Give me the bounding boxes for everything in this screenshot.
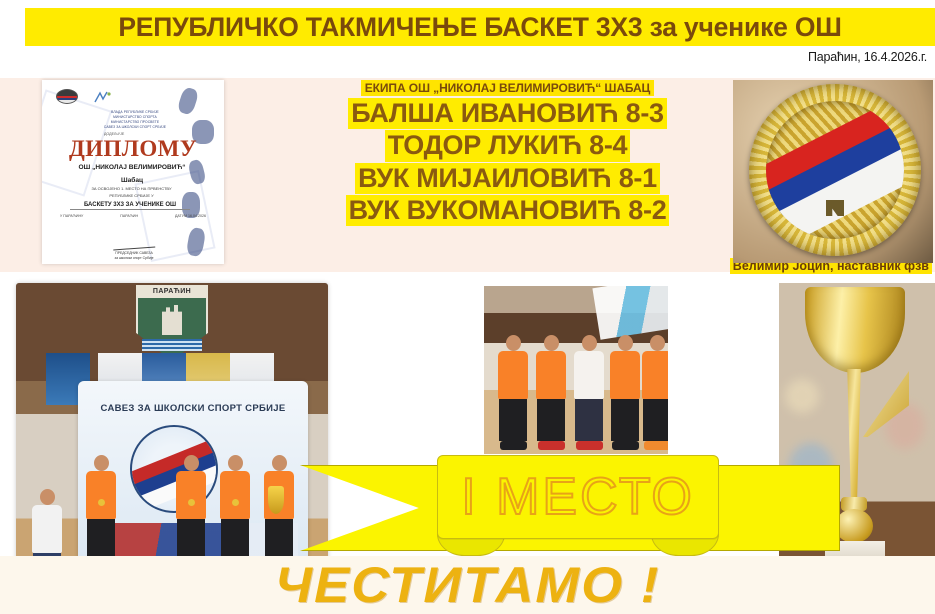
bokeh-blur	[785, 379, 819, 413]
medal-inner-face	[766, 101, 904, 239]
first-place-ribbon: I МЕСТО	[437, 455, 719, 539]
footer-strip	[0, 556, 935, 614]
person-legs	[221, 519, 249, 561]
diploma-signature: ПРЕДСЕДНИК САВЕЗА за школски спорт Србиј…	[84, 240, 184, 261]
roster-item: ВУК ВУКОМАНОВИЋ 8-2	[300, 195, 715, 226]
player-name: ТОДОР ЛУКИЋ 8-4	[385, 130, 631, 161]
diploma-footer-row: У ПАРАЋИНУ ПАРАЋИН ДАТУМ 16.04.2026	[60, 214, 206, 218]
person-legs	[643, 399, 668, 441]
person-shoes	[576, 441, 603, 450]
coach-figure	[574, 335, 604, 450]
medal-icon	[98, 499, 105, 506]
title-banner: РЕПУБЛИЧКО ТАКМИЧЕЊЕ БАСКЕТ 3Х3 за учени…	[25, 8, 935, 46]
person-head	[650, 335, 665, 351]
person-head	[618, 335, 633, 351]
team-roster: ЕКИПА ОШ „НИКОЛАЈ ВЕЛИМИРОВИЋ“ ШАБАЦ БАЛ…	[300, 79, 715, 226]
medal-icon	[188, 499, 195, 506]
person-shoes	[500, 441, 527, 450]
player-name: ВУК МИЈАИЛОВИЋ 8-1	[355, 163, 660, 194]
poster-canvas: РЕПУБЛИЧКО ТАКМИЧЕЊЕ БАСКЕТ 3Х3 за учени…	[0, 0, 935, 614]
diploma-foot-left: У ПАРАЋИНУ	[60, 214, 83, 218]
person-shoes	[612, 441, 639, 450]
page-title: РЕПУБЛИЧКО ТАКМИЧЕЊЕ БАСКЕТ 3Х3 за учени…	[118, 14, 841, 41]
person-torso	[176, 471, 206, 519]
person-legs	[611, 399, 639, 441]
crest-water-icon	[142, 339, 202, 351]
person-legs	[537, 399, 565, 441]
diploma-image: ВЛАДА РЕПУБЛИКЕ СРБИЈЕ МИНИСТАРСТВО СПОР…	[42, 80, 224, 264]
person-head	[40, 489, 55, 505]
signature-scribble-icon	[113, 239, 156, 251]
ministry-logo-icon	[92, 90, 118, 104]
person-head	[228, 455, 243, 471]
person-torso	[574, 351, 604, 399]
person-shoes	[538, 441, 565, 450]
person-shoes	[644, 441, 669, 450]
diploma-logos	[56, 89, 118, 104]
person-torso	[642, 351, 668, 399]
diploma-event: БАСКЕТУ 3Х3 ЗА УЧЕНИКЕ ОШ	[70, 202, 190, 210]
team-celebration-photo	[484, 286, 668, 454]
diploma-school-name: ОШ „НИКОЛАЈ ВЕЛИМИРОВИЋ“ Шабац	[52, 162, 212, 187]
person-head	[272, 455, 287, 471]
player-name: БАЛША ИВАНОВИЋ 8-3	[348, 98, 667, 129]
federation-seal-icon	[56, 89, 78, 104]
diploma-ministry-lines: ВЛАДА РЕПУБЛИКЕ СРБИЈЕ МИНИСТАРСТВО СПОР…	[80, 110, 190, 130]
person-torso	[32, 505, 62, 553]
person-legs	[575, 399, 603, 441]
diploma-reason: ЗА ОСВОЈЕНО 1. МЕСТО НА ПРВЕНСТВУ РЕПУБЛ…	[64, 186, 199, 199]
person-torso	[536, 351, 566, 399]
person-head	[94, 455, 109, 471]
person-legs	[177, 519, 205, 561]
medal-icon	[232, 499, 239, 506]
diploma-foot-center: ПАРАЋИН	[120, 214, 138, 218]
person-legs	[87, 519, 115, 561]
backdrop-title: САВЕЗ ЗА ШКОЛСКИ СПОРТ СРБИЈЕ	[78, 403, 308, 414]
person-head	[544, 335, 559, 351]
person-legs	[265, 519, 293, 561]
diploma-signature-text: ПРЕДСЕДНИК САВЕЗА за школски спорт Србиј…	[115, 251, 154, 260]
diploma-foot-right: ДАТУМ 16.04.2026	[175, 214, 206, 218]
player-figure	[498, 335, 528, 450]
player-figure	[536, 335, 566, 450]
event-date: Параћин, 16.4.2026.г.	[808, 50, 927, 64]
roster-item: ВУК МИЈАИЛОВИЋ 8-1	[300, 163, 715, 194]
team-name-label: ЕКИПА ОШ „НИКОЛАЈ ВЕЛИМИРОВИЋ“ ШАБАЦ	[361, 80, 654, 96]
diploma-heading: ДИПЛОМУ	[58, 136, 208, 162]
player-figure	[642, 335, 668, 450]
person-legs	[499, 399, 527, 441]
crest-label: ПАРАЋИН	[136, 285, 208, 298]
medal-disc	[749, 84, 921, 256]
roster-item: ТОДОР ЛУКИЋ 8-4	[300, 130, 715, 161]
held-trophy-icon	[268, 486, 284, 514]
person-torso	[220, 471, 250, 519]
first-place-label: I МЕСТО	[461, 471, 695, 523]
person-head	[184, 455, 199, 471]
player-name: ВУК ВУКОМАНОВИЋ 8-2	[346, 195, 670, 226]
player-figure	[610, 335, 640, 450]
medal-image	[733, 80, 933, 263]
person-head	[582, 335, 597, 351]
person-head	[506, 335, 521, 351]
roster-item: БАЛША ИВАНОВИЋ 8-3	[300, 98, 715, 129]
person-torso	[86, 471, 116, 519]
person-torso	[498, 351, 528, 399]
person-torso	[610, 351, 640, 399]
trophy-sphere	[835, 509, 873, 543]
